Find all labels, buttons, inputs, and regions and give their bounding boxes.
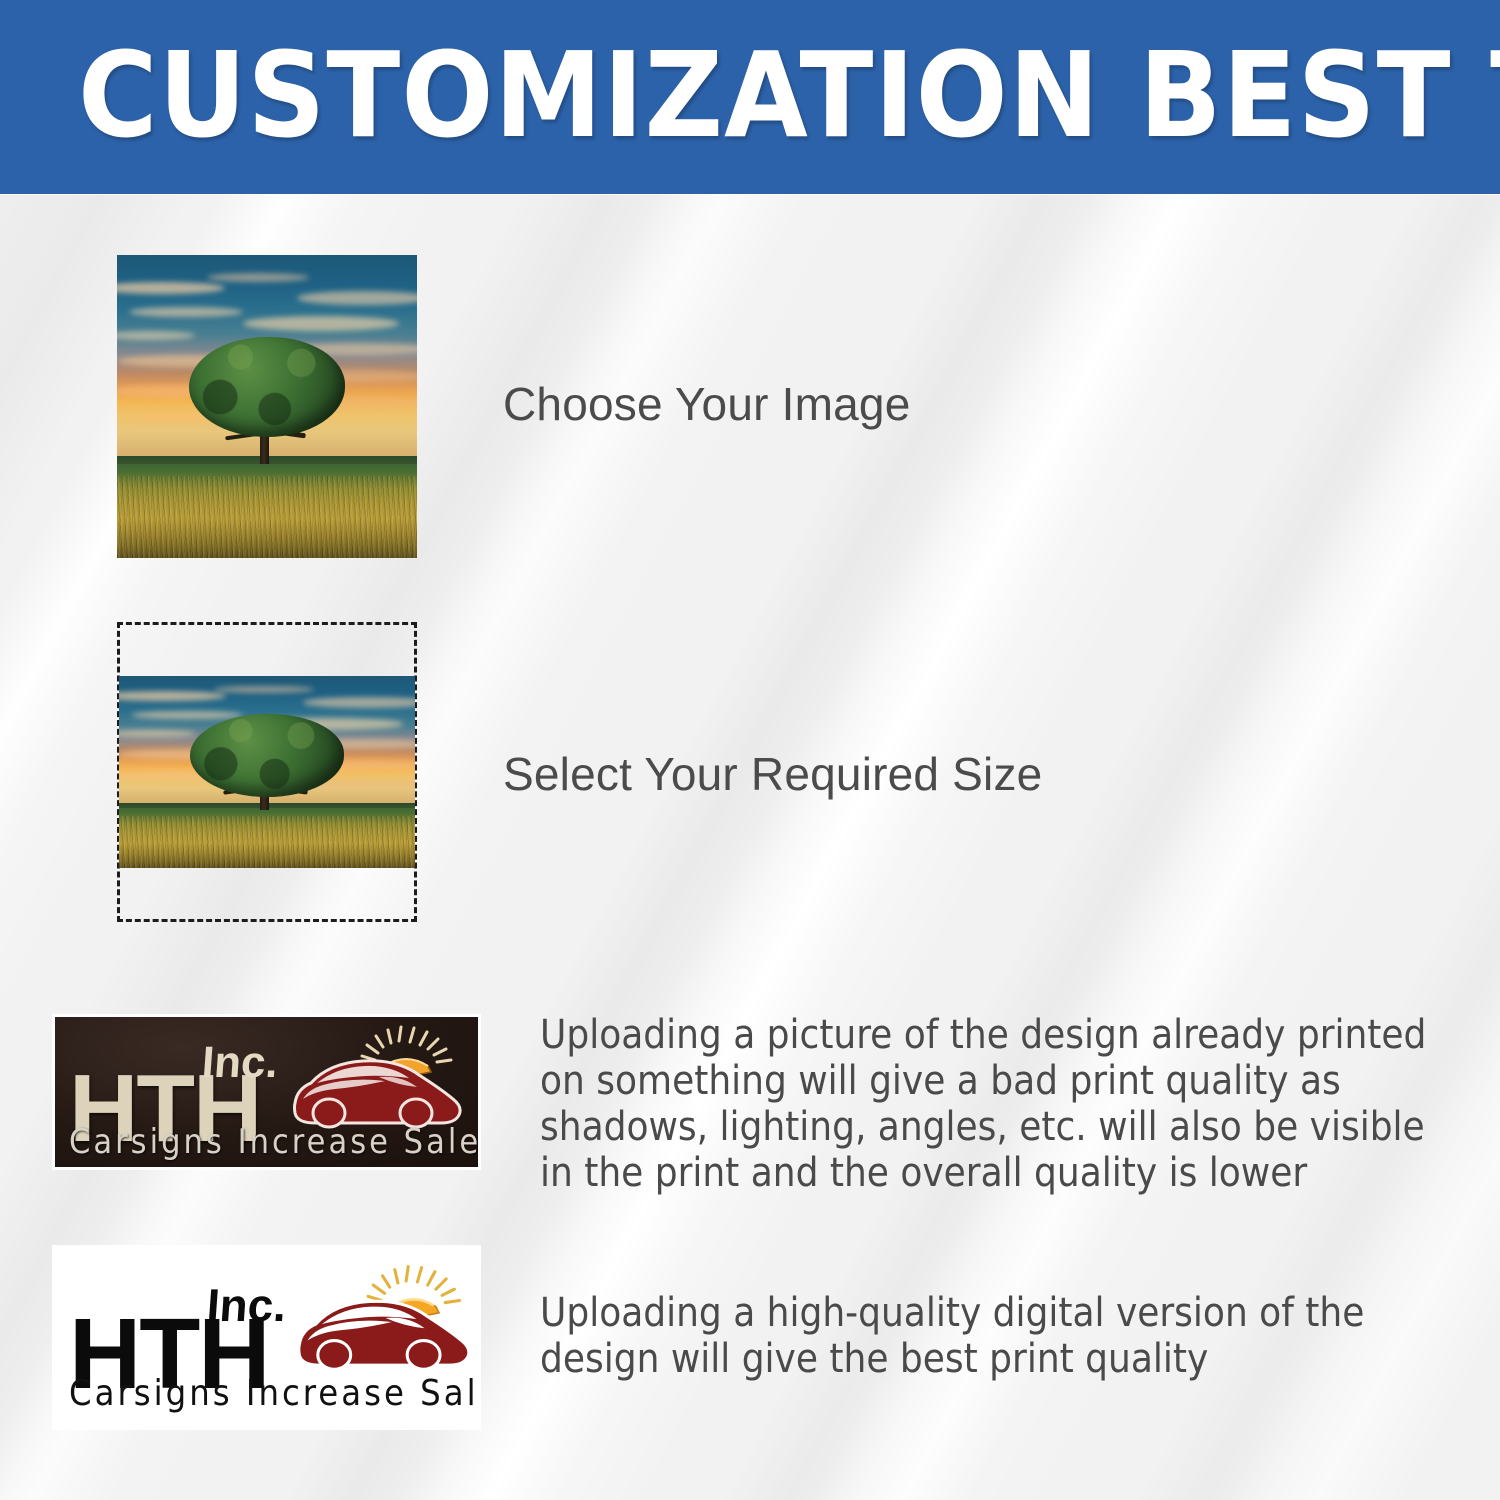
step-3-caption: Uploading a picture of the design alread… (540, 1012, 1426, 1196)
step-1-caption: Choose Your Image (503, 378, 910, 430)
car-icon-dark (283, 1025, 468, 1133)
tree-sunset-photo (117, 255, 417, 558)
logo-suffix-text-light: Inc. (205, 1282, 287, 1328)
step-2-caption: Select Your Required Size (503, 748, 1042, 800)
logo-tagline-light: Carsigns Increase Sales (69, 1376, 478, 1412)
header-banner: CUSTOMIZATION BEST TIPS (0, 0, 1500, 194)
logo-tagline-dark: Carsigns Increase Sales (69, 1125, 478, 1159)
tree-sunset-photo-wide (119, 676, 415, 868)
car-icon-light (287, 1264, 477, 1376)
logo-suffix-text-dark: Inc. (200, 1041, 279, 1085)
digital-logo-artwork[interactable]: HTH Inc. (55, 1248, 478, 1427)
step-1-photo-thumbnail[interactable] (117, 255, 417, 558)
page-title: CUSTOMIZATION BEST TIPS (78, 36, 1500, 154)
step-4-caption: Uploading a high-quality digital version… (540, 1290, 1364, 1382)
step-2-photo-thumbnail[interactable] (119, 676, 415, 868)
printed-banner-photo[interactable]: HTH Inc. (55, 1017, 478, 1167)
